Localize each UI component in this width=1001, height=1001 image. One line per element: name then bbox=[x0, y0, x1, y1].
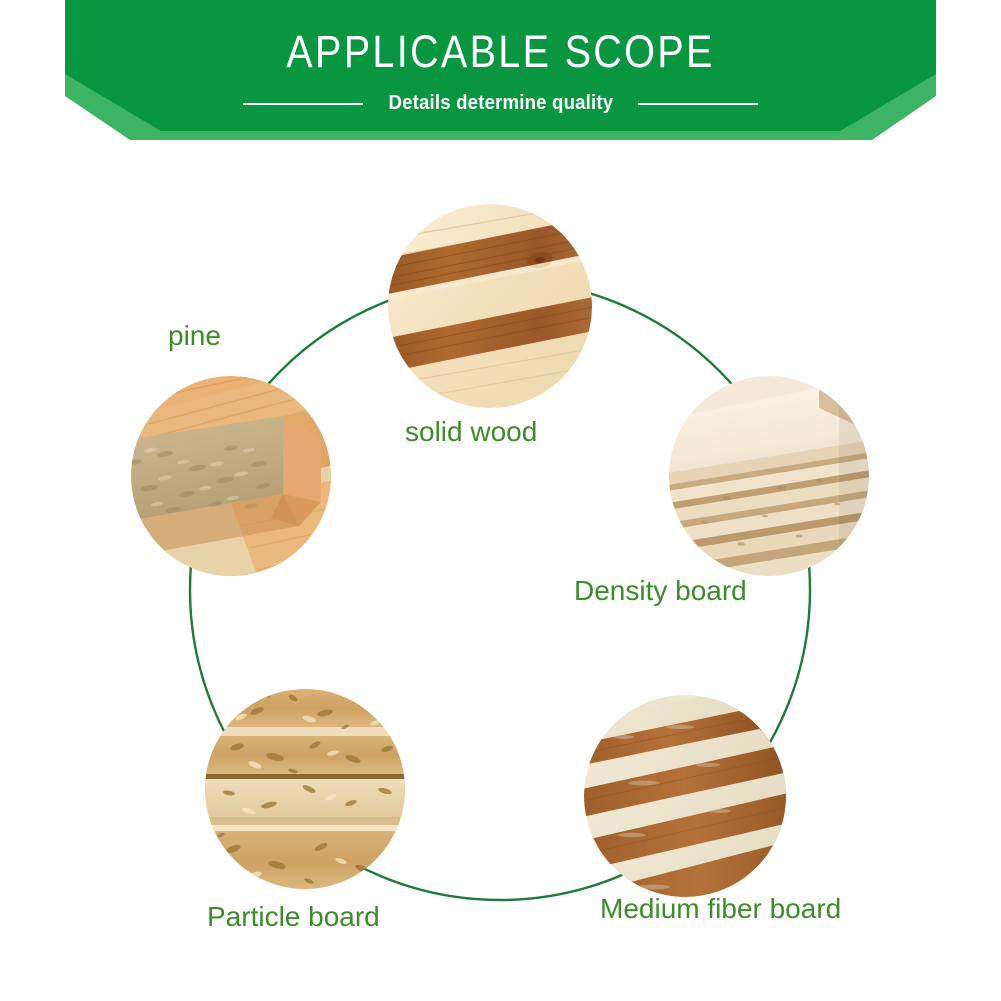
page-title: APPLICABLE SCOPE bbox=[60, 26, 941, 78]
pine-photo bbox=[131, 376, 331, 576]
header-banner: APPLICABLE SCOPE Details determine quali… bbox=[0, 0, 1001, 148]
solid-wood-photo bbox=[388, 204, 592, 408]
particle-board-photo bbox=[205, 689, 405, 889]
applicable-scope-diagram: solid wood bbox=[0, 148, 1001, 1001]
node-label-medium-fiber-board: Medium fiber board bbox=[600, 893, 841, 925]
subtitle-rule-right bbox=[638, 103, 758, 105]
page-subtitle: Details determine quality bbox=[388, 92, 613, 115]
node-label-solid-wood: solid wood bbox=[405, 416, 537, 448]
subtitle-rule-left bbox=[243, 103, 363, 105]
header-subtitle-row: Details determine quality bbox=[0, 92, 1001, 115]
medium-fiber-board-photo bbox=[584, 695, 786, 897]
node-label-density-board: Density board bbox=[574, 575, 747, 607]
node-label-pine: pine bbox=[168, 320, 221, 352]
node-label-particle-board: Particle board bbox=[207, 901, 380, 933]
density-board-photo bbox=[669, 376, 869, 576]
